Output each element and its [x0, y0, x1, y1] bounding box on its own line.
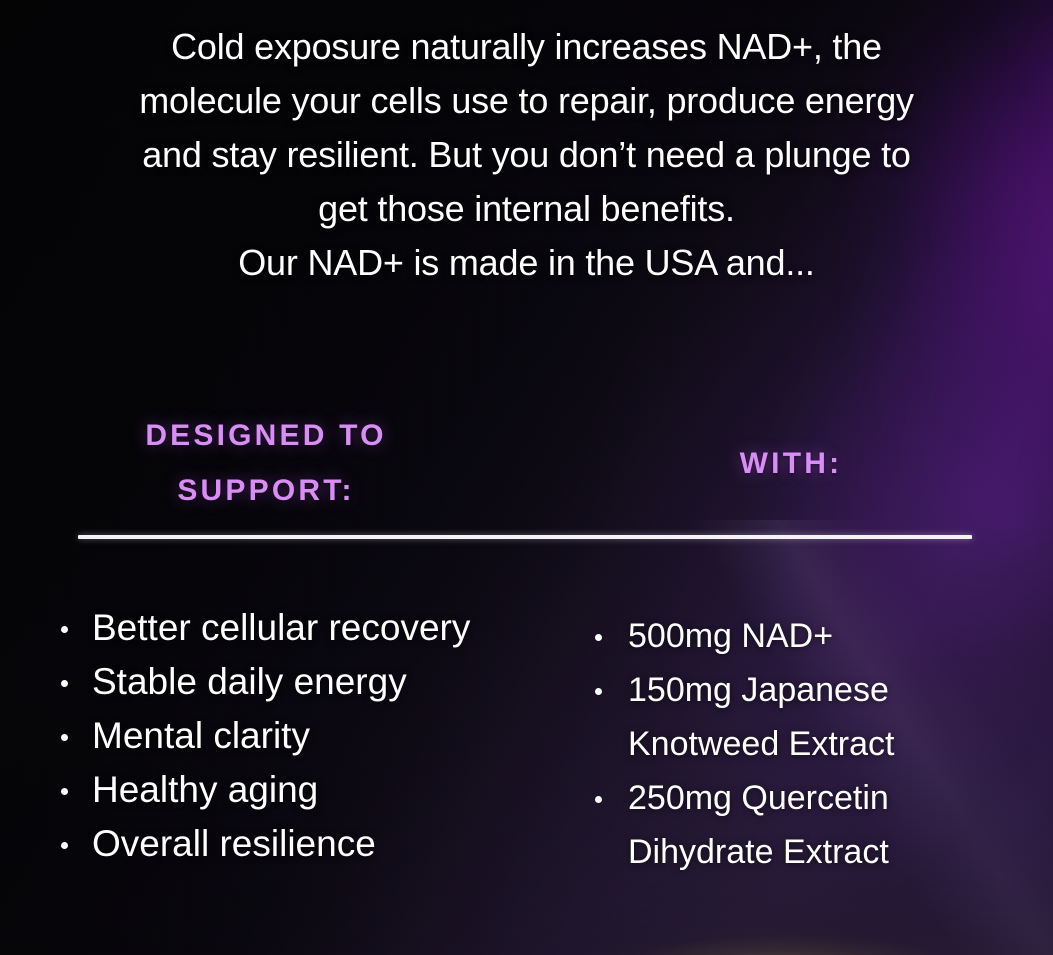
list-item: 250mg Quercetin Dihydrate Extract — [590, 771, 1010, 879]
bullet-dot-icon — [595, 634, 602, 641]
bullet-dot-icon — [61, 680, 68, 687]
list-item: Mental clarity — [56, 709, 536, 763]
bullet-dot-icon — [61, 734, 68, 741]
list-item: 500mg NAD+ — [590, 609, 1010, 663]
list-item-label: Healthy aging — [92, 769, 318, 810]
bullet-dot-icon — [61, 842, 68, 849]
list-item: Healthy aging — [56, 763, 536, 817]
list-item-label: Mental clarity — [92, 715, 310, 756]
list-item-label: 150mg Japanese Knotweed Extract — [628, 671, 894, 763]
list-item: Better cellular recovery — [56, 601, 536, 655]
ingredients-list: 500mg NAD+ 150mg Japanese Knotweed Extra… — [590, 609, 1010, 879]
bullet-dot-icon — [61, 626, 68, 633]
list-item: Overall resilience — [56, 817, 536, 871]
support-benefits-list: Better cellular recovery Stable daily en… — [56, 601, 536, 871]
bullet-dot-icon — [61, 788, 68, 795]
list-item: Stable daily energy — [56, 655, 536, 709]
bullet-dot-icon — [595, 688, 602, 695]
list-item-label: Stable daily energy — [92, 661, 407, 702]
list-item-label: Overall resilience — [92, 823, 376, 864]
list-item: 150mg Japanese Knotweed Extract — [590, 663, 1010, 771]
benefit-lists: Better cellular recovery Stable daily en… — [0, 0, 1053, 955]
list-item-label: 500mg NAD+ — [628, 617, 833, 655]
product-benefits-card: Cold exposure naturally increases NAD+, … — [0, 0, 1053, 955]
bullet-dot-icon — [595, 796, 602, 803]
list-item-label: 250mg Quercetin Dihydrate Extract — [628, 779, 889, 871]
list-item-label: Better cellular recovery — [92, 607, 470, 648]
